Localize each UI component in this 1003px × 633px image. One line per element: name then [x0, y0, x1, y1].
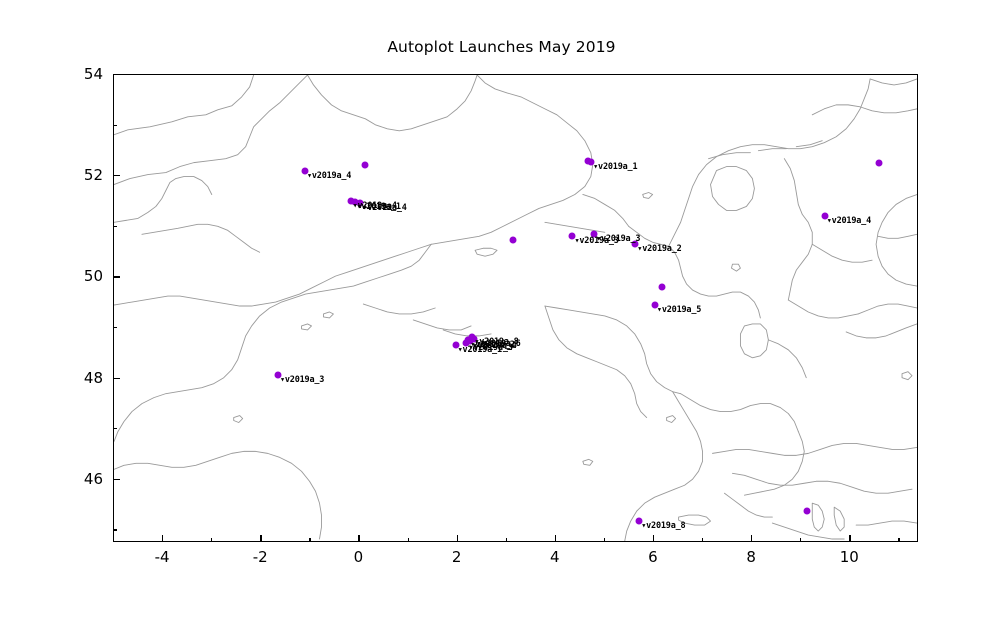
x-axis-tick — [260, 535, 261, 542]
x-axis-tick-label: 6 — [648, 548, 658, 566]
y-axis-tick-label: 54 — [84, 65, 103, 83]
x-axis-tick — [309, 538, 310, 542]
y-axis-tick — [113, 529, 117, 530]
x-axis-tick — [457, 535, 458, 542]
x-axis-tick — [506, 538, 507, 542]
y-axis-tick — [113, 378, 120, 379]
x-axis-tick — [358, 535, 359, 542]
x-axis-tick — [751, 535, 752, 542]
y-axis-tick — [113, 175, 120, 176]
x-axis-tick — [849, 535, 850, 542]
x-axis-tick — [555, 535, 556, 542]
y-axis-tick — [113, 226, 117, 227]
x-axis-tick-label: 4 — [550, 548, 560, 566]
y-axis-tick-label: 46 — [84, 470, 103, 488]
x-axis-tick — [653, 535, 654, 542]
x-axis-tick-label: 0 — [354, 548, 364, 566]
y-axis-tick-label: 52 — [84, 166, 103, 184]
x-axis-tick-label: 10 — [840, 548, 859, 566]
x-axis-tick-label: 2 — [452, 548, 462, 566]
x-axis-tick-label: -4 — [155, 548, 170, 566]
y-axis-tick — [113, 479, 120, 480]
x-axis-tick — [211, 538, 212, 542]
x-axis-tick-label: -2 — [253, 548, 268, 566]
figure-canvas: Autoplot Launches May 2019 — [0, 0, 1003, 633]
x-axis-tick — [162, 535, 163, 542]
y-axis-tick — [113, 428, 117, 429]
y-axis-tick-label: 48 — [84, 369, 103, 387]
x-axis-tick — [702, 538, 703, 542]
y-axis-tick — [113, 125, 117, 126]
map-coastlines — [114, 75, 917, 541]
y-axis-tick-label: 50 — [84, 267, 103, 285]
page-title: Autoplot Launches May 2019 — [0, 38, 1003, 56]
x-axis-tick-label: 8 — [746, 548, 756, 566]
plot-area[interactable]: ▾v2019a_4▾v2019a_4▾v2019a_1▾v2019a_4▾v20… — [113, 74, 918, 542]
x-axis-tick — [408, 538, 409, 542]
x-axis-tick — [604, 538, 605, 542]
y-axis-tick — [113, 276, 120, 277]
x-axis-tick — [898, 538, 899, 542]
y-axis-tick — [113, 74, 120, 75]
y-axis-tick — [113, 327, 117, 328]
x-axis-tick — [800, 538, 801, 542]
